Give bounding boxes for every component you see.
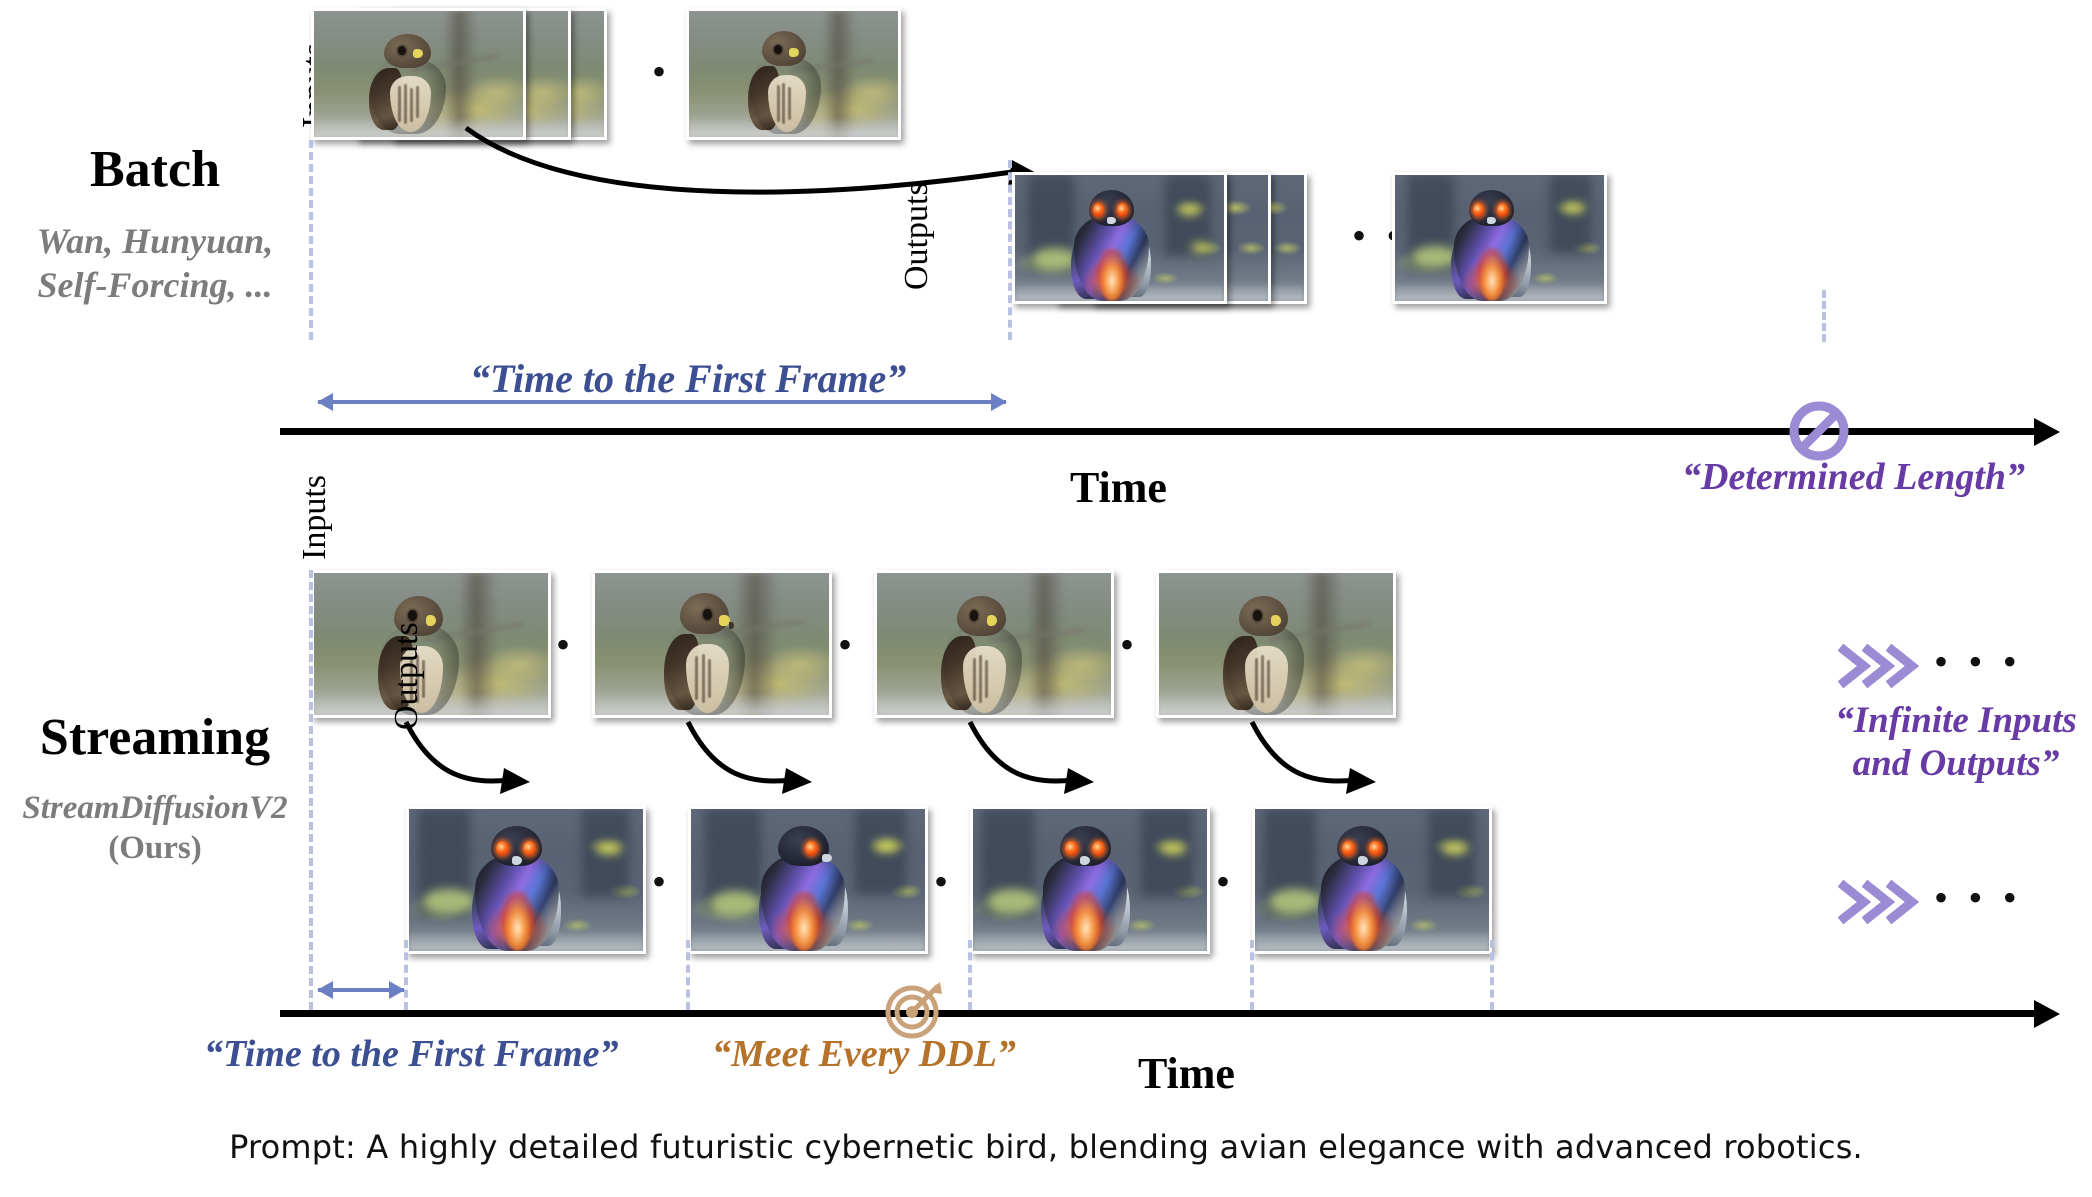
batch-outputs-label: Outputs [898, 182, 936, 290]
streaming-dash-5 [1490, 940, 1494, 1010]
streaming-subtitle-line2: (Ours) [108, 830, 202, 866]
streaming-output-frame-1 [406, 806, 646, 954]
batch-output-frame-last [1392, 172, 1607, 304]
streaming-output-frame-3 [970, 806, 1210, 954]
batch-ttff-label: “Time to the First Frame” [470, 355, 906, 402]
batch-output-frame-1 [1012, 172, 1227, 304]
triple-chevron-right-icon-inputs [1838, 642, 1922, 690]
streaming-dash-3 [968, 940, 972, 1010]
batch-time-axis [280, 428, 2036, 435]
streaming-ttff-arrow [318, 988, 404, 992]
streaming-dash-4 [1250, 940, 1254, 1010]
streaming-output-frame-4 [1252, 806, 1492, 954]
streaming-ttff-label: “Time to the First Frame” [204, 1032, 619, 1076]
streaming-ddl-label: “Meet Every DDL” [712, 1032, 1016, 1076]
batch-dash-end [1822, 290, 1826, 342]
infinite-label-line1: “Infinite Inputs [1835, 700, 2077, 741]
streaming-dash-1 [404, 940, 408, 1010]
batch-row-title: Batch [0, 140, 310, 199]
batch-time-axis-label: Time [1070, 462, 1167, 513]
streaming-input-frame-1 [311, 570, 551, 718]
streaming-time-axis-arrowhead [2034, 1000, 2060, 1028]
batch-row-subtitle: Wan, Hunyuan, Self-Forcing, ... [0, 220, 310, 308]
prompt-caption: Prompt: A highly detailed futuristic cyb… [0, 1128, 2092, 1166]
streaming-inputs-label: Inputs [296, 475, 334, 560]
streaming-infinite-label: “Infinite Inputs and Outputs” [1820, 700, 2092, 785]
batch-dash-first-output [1008, 160, 1012, 340]
streaming-dash-2 [686, 940, 690, 1010]
streaming-output-ellipsis-4: • • • [1934, 878, 2022, 918]
streaming-row-subtitle: StreamDiffusionV2 (Ours) [0, 788, 310, 869]
streaming-time-axis [280, 1010, 2036, 1017]
streaming-output-frame-2 [688, 806, 928, 954]
streaming-subtitle-line1: StreamDiffusionV2 [22, 790, 287, 826]
infinite-label-line2: and Outputs” [1853, 743, 2060, 784]
streaming-input-ellipsis-4: • • • [1934, 642, 2022, 682]
target-dart-icon [882, 978, 944, 1040]
streaming-outputs-label: Outputs [388, 622, 426, 730]
streaming-input-frame-2 [592, 570, 832, 718]
streaming-flow-arrow-3 [964, 718, 1104, 806]
batch-determined-length-label: “Determined Length” [1682, 455, 2025, 499]
streaming-row-title: Streaming [0, 708, 310, 767]
streaming-input-frame-4 [1156, 570, 1396, 718]
streaming-flow-arrow-2 [682, 718, 822, 806]
streaming-input-frame-3 [874, 570, 1114, 718]
batch-dash-start [309, 140, 313, 340]
streaming-vs-batch-figure: Batch Wan, Hunyuan, Self-Forcing, ... In… [0, 0, 2092, 1197]
no-entry-icon [1788, 400, 1850, 462]
streaming-time-axis-label: Time [1138, 1048, 1235, 1099]
batch-subtitle-line1: Wan, Hunyuan, [37, 221, 273, 261]
batch-flow-arrow [460, 120, 1060, 190]
streaming-dash-0 [309, 570, 313, 1010]
batch-subtitle-line2: Self-Forcing, ... [37, 265, 272, 305]
batch-time-axis-arrowhead [2034, 418, 2060, 446]
triple-chevron-right-icon-outputs [1838, 878, 1922, 926]
streaming-flow-arrow-1 [400, 718, 540, 806]
streaming-flow-arrow-4 [1246, 718, 1386, 806]
